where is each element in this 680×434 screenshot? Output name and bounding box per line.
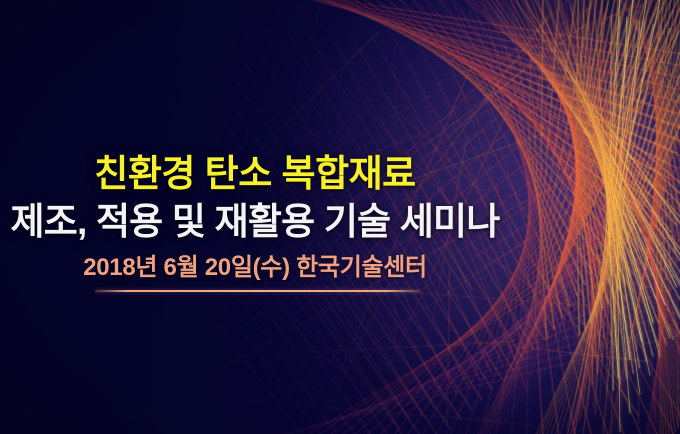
event-date-venue: 2018년 6월 20일(수) 한국기술센터 bbox=[0, 256, 510, 280]
seminar-banner: 친환경 탄소 복합재료 제조, 적용 및 재활용 기술 세미나 2018년 6월… bbox=[0, 0, 680, 434]
page-subtitle: 제조, 적용 및 재활용 기술 세미나 bbox=[0, 203, 510, 240]
divider-rule bbox=[95, 290, 420, 292]
page-title: 친환경 탄소 복합재료 bbox=[0, 155, 510, 192]
